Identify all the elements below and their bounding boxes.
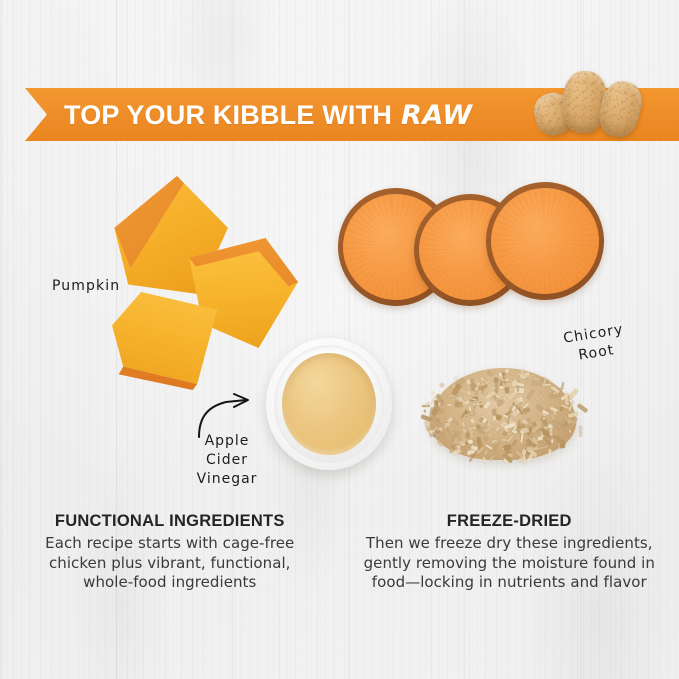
chicory-chip bbox=[542, 416, 545, 419]
chicory-chip bbox=[571, 416, 577, 425]
feature-column-functional-ingredients: FUNCTIONAL INGREDIENTS Each recipe start… bbox=[0, 512, 340, 593]
banner-title-accent: RAW bbox=[401, 100, 473, 131]
chicory-chip bbox=[577, 403, 588, 413]
chicory-chip bbox=[551, 438, 553, 442]
banner-title-main: TOP YOUR KIBBLE WITH bbox=[64, 100, 392, 131]
sweet-potato-flesh bbox=[488, 185, 601, 297]
chicory-chip bbox=[423, 409, 426, 413]
chicory-chip bbox=[505, 387, 510, 393]
chicory-chip bbox=[569, 388, 579, 398]
callout-label-apple-cider-vinegar: Apple Cider Vinegar bbox=[186, 432, 268, 489]
chicory-chip bbox=[431, 391, 434, 395]
vinegar-liquid bbox=[282, 353, 376, 455]
pumpkin-chunk bbox=[112, 292, 224, 390]
column-heading: FREEZE-DRIED bbox=[340, 512, 679, 531]
column-body: Each recipe starts with cage-free chicke… bbox=[30, 534, 310, 593]
chicory-chip bbox=[475, 391, 479, 396]
callout-label-pumpkin: Pumpkin bbox=[52, 277, 120, 296]
chicory-chip bbox=[561, 383, 565, 391]
kibble-nugget-group bbox=[533, 62, 653, 142]
column-heading: FUNCTIONAL INGREDIENTS bbox=[0, 512, 340, 531]
banner-title: TOP YOUR KIBBLE WITHRAW bbox=[64, 93, 473, 137]
sweet-potato-slices bbox=[338, 182, 584, 312]
column-body: Then we freeze dry these ingredients, ge… bbox=[361, 534, 657, 593]
chicory-chip bbox=[532, 381, 543, 386]
chicory-chip bbox=[469, 407, 471, 412]
chicory-chip bbox=[548, 449, 551, 458]
feature-columns: FUNCTIONAL INGREDIENTS Each recipe start… bbox=[0, 512, 679, 593]
chicory-chip bbox=[439, 383, 445, 389]
chicory-chip bbox=[484, 435, 488, 441]
chicory-chip bbox=[455, 401, 463, 406]
chicory-chip bbox=[579, 426, 582, 437]
feature-column-freeze-dried: FREEZE-DRIED Then we freeze dry these in… bbox=[340, 512, 679, 593]
vinegar-bowl bbox=[266, 338, 392, 470]
chicory-chip bbox=[452, 446, 455, 450]
product-feature-graphic: TOP YOUR KIBBLE WITHRAW bbox=[0, 0, 679, 679]
